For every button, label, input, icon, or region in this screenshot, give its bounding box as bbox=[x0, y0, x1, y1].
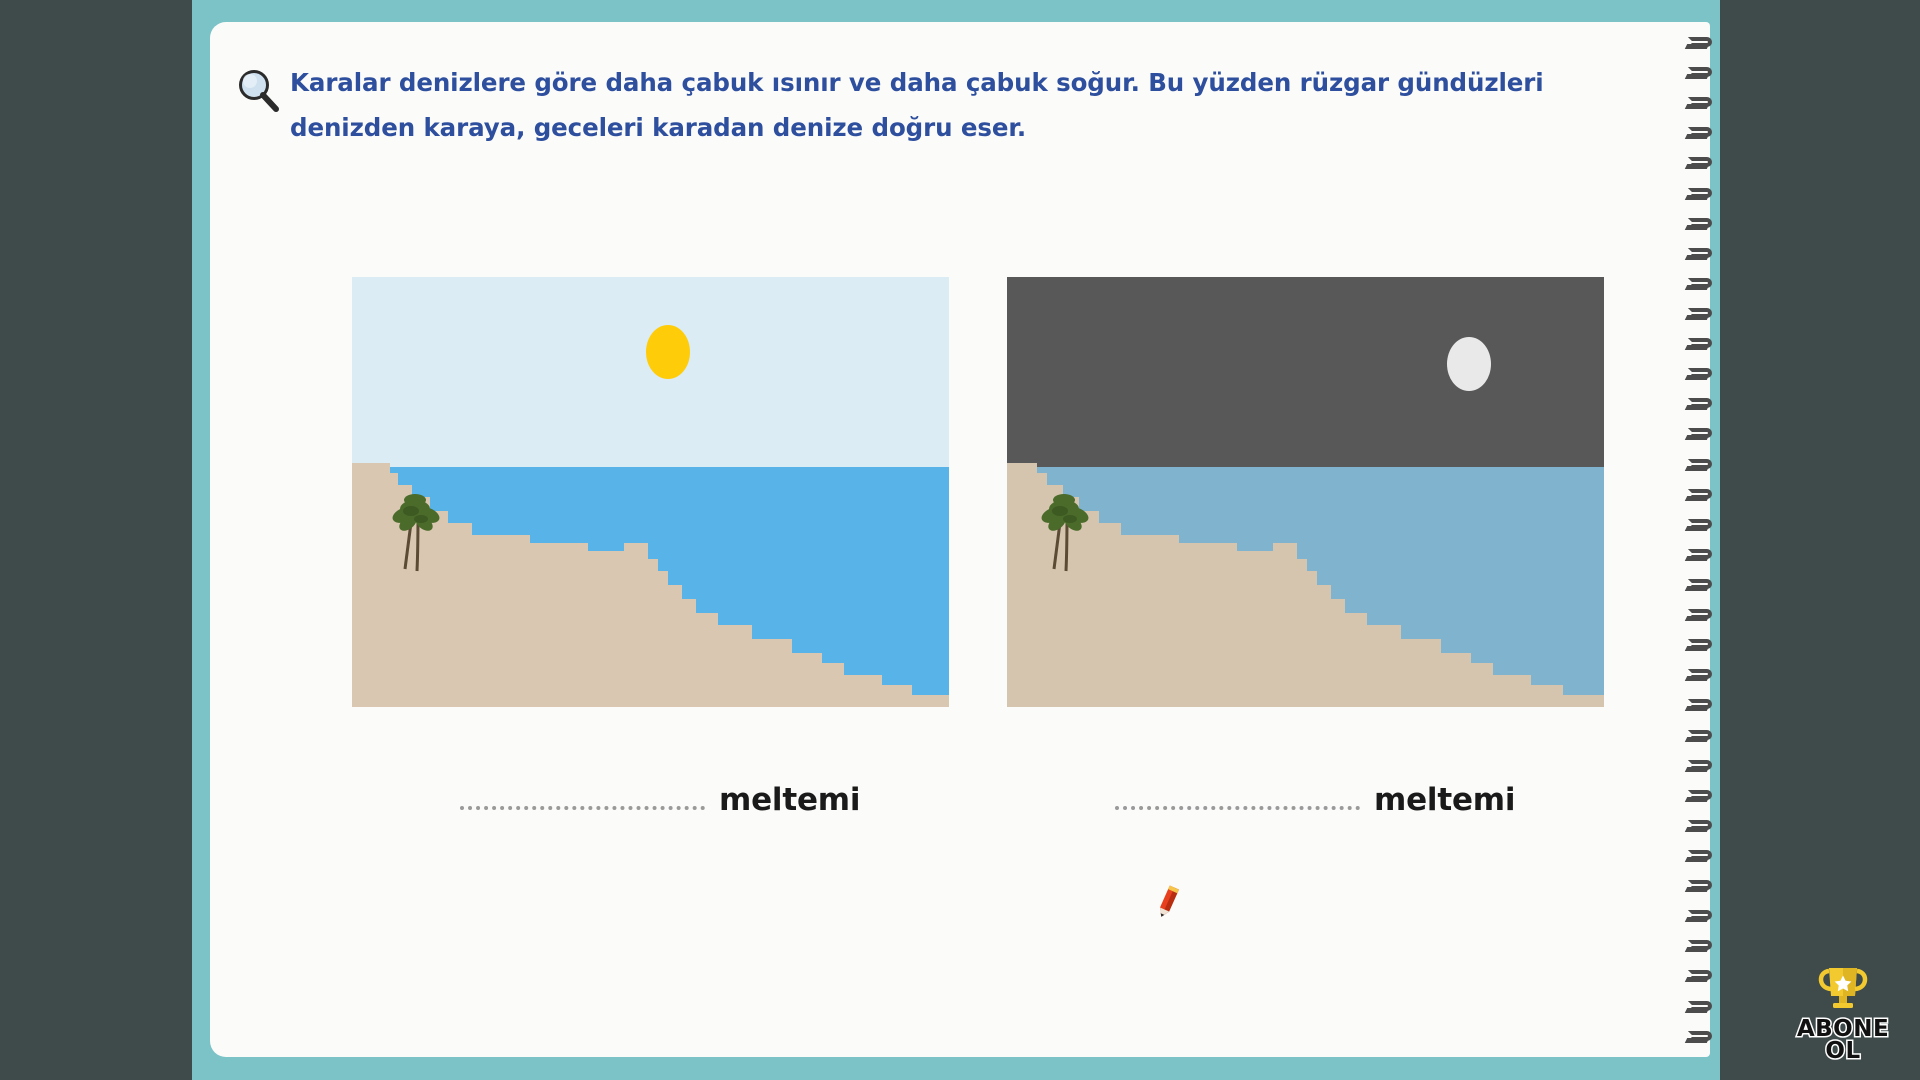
binding-ring bbox=[1684, 548, 1718, 561]
binding-ring bbox=[1684, 96, 1718, 109]
binding-ring bbox=[1684, 217, 1718, 230]
binding-ring bbox=[1684, 518, 1718, 531]
binding-ring bbox=[1684, 939, 1718, 952]
answer-blank-day[interactable] bbox=[460, 792, 705, 810]
heading-text: Karalar denizlere göre daha çabuk ısınır… bbox=[290, 60, 1674, 151]
binding-ring bbox=[1684, 488, 1718, 501]
pencil-cursor-icon bbox=[1147, 880, 1187, 927]
answer-word-day: meltemi bbox=[719, 782, 860, 818]
binding-ring bbox=[1684, 578, 1718, 591]
worksheet-page: Karalar denizlere göre daha çabuk ısınır… bbox=[210, 22, 1710, 1057]
palm-tree-icon bbox=[388, 489, 444, 575]
binding-ring bbox=[1684, 307, 1718, 320]
binding-ring bbox=[1684, 458, 1718, 471]
night-sky bbox=[1007, 277, 1604, 467]
binding-ring bbox=[1684, 187, 1718, 200]
binding-ring bbox=[1684, 789, 1718, 802]
answer-blank-night[interactable] bbox=[1115, 792, 1360, 810]
binding-ring bbox=[1684, 759, 1718, 772]
binding-ring bbox=[1684, 969, 1718, 982]
binding-ring bbox=[1684, 849, 1718, 862]
badge-line-2: OL bbox=[1784, 1040, 1902, 1062]
binding-ring bbox=[1684, 367, 1718, 380]
binding-ring bbox=[1684, 729, 1718, 742]
binding-ring bbox=[1684, 608, 1718, 621]
magnifier-icon bbox=[236, 68, 282, 114]
badge-line-1: ABONE bbox=[1784, 1018, 1902, 1040]
binding-ring bbox=[1684, 277, 1718, 290]
answer-label-night: meltemi bbox=[1115, 782, 1515, 818]
binding-ring bbox=[1684, 66, 1718, 79]
answer-labels-row: meltemi meltemi bbox=[210, 782, 1710, 842]
day-sky bbox=[352, 277, 949, 467]
binding-ring bbox=[1684, 638, 1718, 651]
answer-label-day: meltemi bbox=[460, 782, 860, 818]
spiral-binding bbox=[1684, 22, 1718, 1057]
binding-ring bbox=[1684, 909, 1718, 922]
day-beach-scene bbox=[352, 277, 949, 707]
binding-ring bbox=[1684, 668, 1718, 681]
illustration-row bbox=[210, 277, 1710, 707]
trophy-icon bbox=[1812, 962, 1874, 1018]
answer-word-night: meltemi bbox=[1374, 782, 1515, 818]
screen: Karalar denizlere göre daha çabuk ısınır… bbox=[0, 0, 1920, 1080]
binding-ring bbox=[1684, 397, 1718, 410]
sun-icon bbox=[646, 325, 690, 379]
palm-tree-icon bbox=[1037, 489, 1093, 575]
night-beach-scene bbox=[1007, 277, 1604, 707]
heading-block: Karalar denizlere göre daha çabuk ısınır… bbox=[232, 60, 1674, 151]
binding-ring bbox=[1684, 156, 1718, 169]
binding-ring bbox=[1684, 1030, 1718, 1043]
binding-ring bbox=[1684, 1000, 1718, 1013]
moon-icon bbox=[1447, 337, 1491, 391]
subscribe-badge[interactable]: ABONE OL bbox=[1784, 962, 1902, 1074]
binding-ring bbox=[1684, 819, 1718, 832]
night-coastline bbox=[1007, 463, 1604, 707]
binding-ring bbox=[1684, 36, 1718, 49]
binding-ring bbox=[1684, 879, 1718, 892]
binding-ring bbox=[1684, 126, 1718, 139]
binding-ring bbox=[1684, 247, 1718, 260]
binding-ring bbox=[1684, 427, 1718, 440]
binding-ring bbox=[1684, 698, 1718, 711]
binding-ring bbox=[1684, 337, 1718, 350]
